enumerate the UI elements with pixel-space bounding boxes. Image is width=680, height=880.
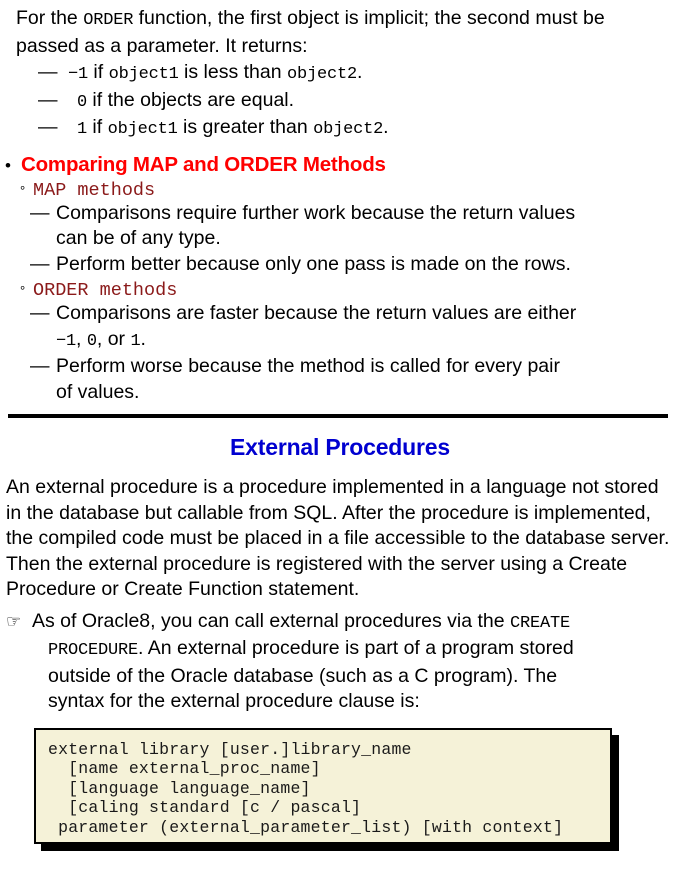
hollow-circle-bullet-icon: °	[20, 184, 33, 197]
order-methods-list: — Comparisons are faster because the ret…	[0, 301, 680, 405]
section-divider	[8, 414, 668, 418]
hand-line-4: syntax for the external procedure clause…	[32, 689, 674, 715]
procedure-code: PROCEDURE	[48, 641, 138, 660]
order-item-continuation: −1, 0, or 1.	[0, 327, 680, 355]
list-item: — Perform better because only one pass i…	[0, 252, 680, 278]
sep-b: , or	[97, 328, 131, 350]
dash-marker: —	[30, 201, 56, 227]
map-methods-heading: ° MAP methods	[0, 180, 680, 201]
object2-code: object2	[313, 120, 383, 139]
hand-bullet-text: As of Oracle8, you can call external pro…	[32, 609, 680, 715]
code-line: [caling standard [c / pascal]	[48, 798, 610, 818]
list-item: — Comparisons are faster because the ret…	[0, 301, 680, 327]
object1-code: object1	[108, 120, 178, 139]
return-text-before: if	[88, 61, 109, 83]
returns-list: — −1 if object1 is less than object2. — …	[16, 60, 666, 143]
comparing-heading-label: Comparing MAP and ORDER Methods	[21, 153, 386, 177]
return-value-row: 0 if the objects are equal.	[68, 88, 666, 116]
map-item-text: Comparisons require further work because…	[56, 201, 680, 227]
list-item: — 0 if the objects are equal.	[16, 88, 666, 116]
return-text-mid: is greater than	[178, 116, 314, 138]
slide-page: For the ORDER function, the first object…	[0, 0, 680, 880]
pointing-hand-icon: ☞	[6, 609, 32, 635]
create-code: CREATE	[510, 614, 570, 633]
return-text-before: if the objects are equal.	[87, 89, 294, 111]
hand-line-1: As of Oracle8, you can call external pro…	[32, 610, 570, 632]
hand-line-3: outside of the Oracle database (such as …	[32, 664, 674, 690]
dash-marker: —	[30, 354, 56, 380]
return-text-after: .	[383, 116, 388, 138]
list-item: — Perform worse because the method is ca…	[0, 354, 680, 380]
external-procedures-section: External Procedures An external procedur…	[0, 434, 680, 844]
comparing-heading: • Comparing MAP and ORDER Methods	[0, 153, 680, 177]
object2-code: object2	[287, 65, 357, 84]
code-line: parameter (external_parameter_list) [wit…	[48, 818, 610, 838]
return-value-row: 1 if object1 is greater than object2.	[68, 115, 666, 143]
hand-bullet-block: ☞ As of Oracle8, you can call external p…	[0, 609, 680, 715]
hollow-circle-bullet-icon: °	[20, 284, 33, 297]
sep-a: ,	[76, 328, 87, 350]
list-item: — Comparisons require further work becau…	[0, 201, 680, 227]
intro-section: For the ORDER function, the first object…	[0, 0, 680, 143]
value-zero: 0	[87, 332, 97, 351]
value-minus-one: −1	[56, 332, 76, 351]
return-value: −1	[68, 62, 88, 88]
list-item: — 1 if object1 is greater than object2.	[16, 115, 666, 143]
dash-marker: —	[30, 301, 56, 327]
intro-lead-before: For the	[16, 7, 83, 29]
return-text-mid: is less than	[179, 61, 287, 83]
comparing-section: • Comparing MAP and ORDER Methods ° MAP …	[0, 153, 680, 406]
order-methods-heading: ° ORDER methods	[0, 280, 680, 301]
return-value: 0	[68, 90, 87, 116]
return-text-after: .	[357, 61, 362, 83]
list-item: — −1 if object1 is less than object2.	[16, 60, 666, 88]
dash-marker: —	[38, 60, 68, 86]
sep-c: .	[140, 328, 145, 350]
code-line: [name external_proc_name]	[48, 759, 610, 779]
hand-line-2: PROCEDURE. An external procedure is part…	[32, 636, 674, 664]
value-one: 1	[130, 332, 140, 351]
map-methods-list: — Comparisons require further work becau…	[0, 201, 680, 278]
syntax-code-box-wrapper: external library [user.]library_name [na…	[34, 728, 612, 844]
return-text-before: if	[87, 116, 108, 138]
dash-marker: —	[38, 88, 68, 114]
dash-marker: —	[38, 115, 68, 141]
intro-order-code: ORDER	[83, 11, 133, 30]
code-line: external library [user.]library_name	[48, 740, 610, 760]
page-title: External Procedures	[0, 434, 680, 461]
map-item-text: Perform better because only one pass is …	[56, 252, 680, 278]
external-paragraph-block: An external procedure is a procedure imp…	[0, 461, 680, 603]
filled-bullet-icon: •	[5, 157, 21, 174]
external-paragraph: An external procedure is a procedure imp…	[6, 475, 672, 603]
hand-text-2: . An external procedure is part of a pro…	[138, 637, 574, 659]
intro-paragraph: For the ORDER function, the first object…	[16, 6, 666, 59]
order-item-text: Perform worse because the method is call…	[56, 354, 680, 380]
order-item-continuation: of values.	[0, 380, 680, 406]
dash-marker: —	[30, 252, 56, 278]
order-methods-label: ORDER methods	[33, 280, 177, 301]
hand-text-1: As of Oracle8, you can call external pro…	[32, 610, 510, 632]
code-line: [language language_name]	[48, 779, 610, 799]
return-value: 1	[68, 117, 87, 143]
syntax-code-box: external library [user.]library_name [na…	[34, 728, 612, 844]
return-value-row: −1 if object1 is less than object2.	[68, 60, 666, 88]
order-item-text: Comparisons are faster because the retur…	[56, 301, 680, 327]
map-item-continuation: can be of any type.	[0, 226, 680, 252]
map-methods-label: MAP methods	[33, 180, 155, 201]
object1-code: object1	[109, 65, 179, 84]
